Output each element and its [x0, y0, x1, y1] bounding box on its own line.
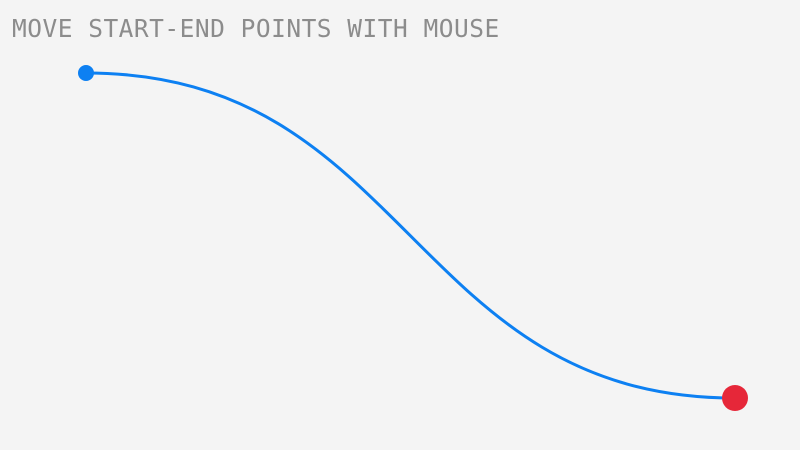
bezier-demo-app: MOVE START-END POINTS WITH MOUSE — [0, 0, 800, 450]
end-point-handle[interactable] — [722, 385, 748, 411]
start-point-handle[interactable] — [78, 65, 94, 81]
bezier-canvas[interactable] — [0, 0, 800, 450]
page-title: MOVE START-END POINTS WITH MOUSE — [12, 16, 500, 42]
